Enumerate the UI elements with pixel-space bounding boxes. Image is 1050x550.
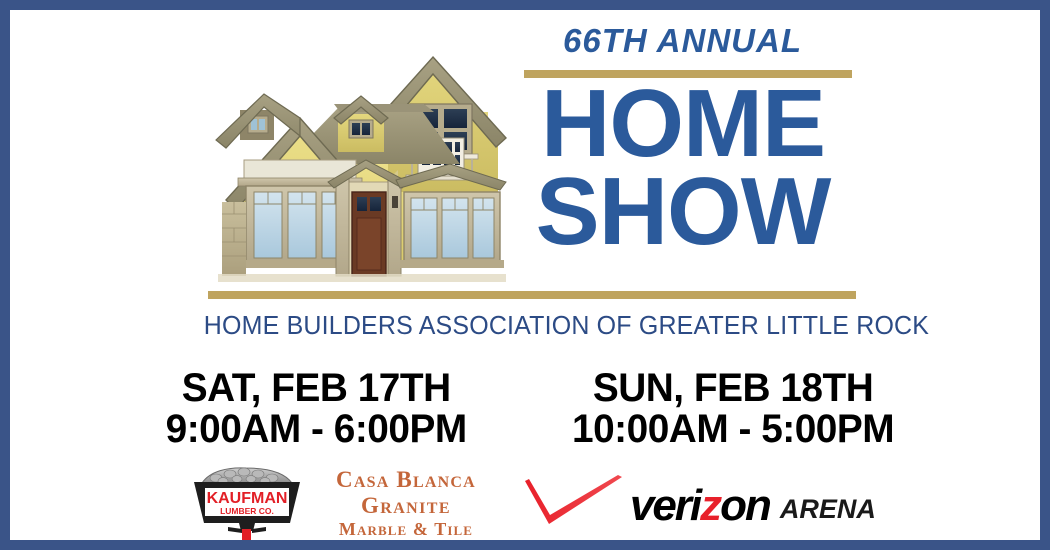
verizon-word-z: z — [700, 481, 720, 530]
home-show-poster: 66TH ANNUAL HOME SHOW HOME BUILDERS ASSO… — [0, 0, 1050, 550]
title-line-show: SHOW — [508, 168, 858, 256]
verizon-wordmark: verizon — [630, 484, 770, 528]
sponsor-logo-verizon-arena[interactable]: verizon ARENA — [522, 475, 876, 533]
verizon-word-post: on — [720, 481, 770, 530]
annual-label: 66TH ANNUAL — [510, 24, 855, 57]
sponsor-logo-casa-blanca[interactable]: Casa Blanca Granite Marble & Tile — [336, 467, 476, 541]
date-column-sunday: SUN, FEB 18TH 10:00AM - 5:00PM — [572, 368, 894, 450]
casa-blanca-line2: Granite — [336, 493, 476, 519]
gold-divider-bottom — [208, 291, 856, 299]
event-dates: SAT, FEB 17TH 9:00AM - 6:00PM SUN, FEB 1… — [30, 368, 1030, 450]
title-line-home: HOME — [508, 80, 858, 168]
verizon-checkmark-icon — [522, 475, 626, 533]
verizon-arena-label: ARENA — [780, 496, 876, 523]
sunday-time-label: 10:00AM - 5:00PM — [572, 409, 894, 450]
date-column-saturday: SAT, FEB 17TH 9:00AM - 6:00PM — [165, 368, 466, 450]
saturday-time-label: 9:00AM - 6:00PM — [165, 409, 466, 450]
page-title: HOME SHOW — [508, 80, 858, 257]
casa-blanca-line1: Casa Blanca — [336, 467, 476, 493]
sponsor-row: KAUFMAN LUMBER CO. Casa Blanca Granite M… — [30, 462, 1030, 546]
saturday-day-label: SAT, FEB 17TH — [165, 368, 466, 409]
sunday-day-label: SUN, FEB 18TH — [572, 368, 894, 409]
kaufman-name-line2: LUMBER CO. — [220, 506, 274, 516]
casa-blanca-line3: Marble & Tile — [336, 519, 476, 539]
organization-subtitle: HOME BUILDERS ASSOCIATION OF GREATER LIT… — [204, 310, 866, 341]
verizon-word-pre: veri — [630, 481, 700, 530]
house-illustration — [188, 52, 513, 292]
kaufman-name-line1: KAUFMAN — [207, 490, 288, 507]
sponsor-logo-kaufman-lumber[interactable]: KAUFMAN LUMBER CO. — [184, 465, 308, 543]
